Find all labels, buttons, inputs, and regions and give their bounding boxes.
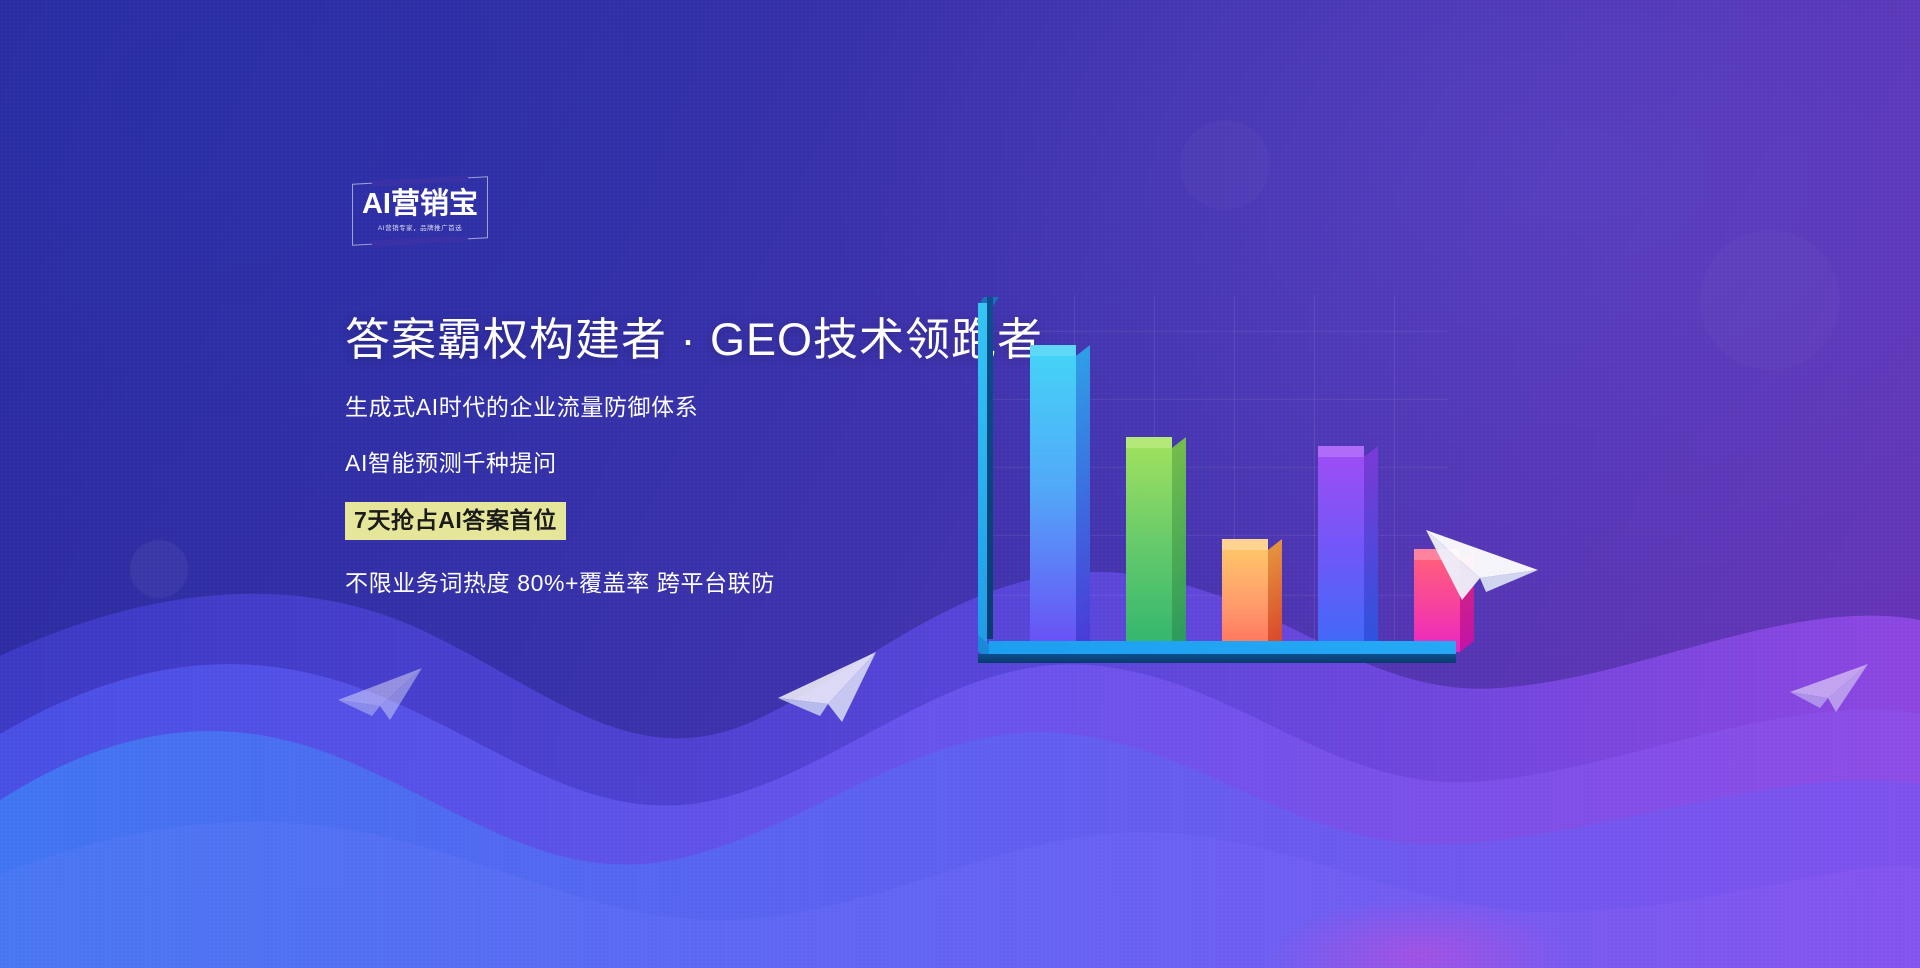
- chart-bar-2: [1126, 448, 1172, 652]
- hero-banner: AI营销宝 AI营销专家，品牌推广首选 答案霸权构建者 · GEO技术领跑者 生…: [0, 0, 1920, 968]
- subtitle-line-1: 生成式AI时代的企业流量防御体系: [345, 392, 1005, 422]
- hero-copy-block: 答案霸权构建者 · GEO技术领跑者 生成式AI时代的企业流量防御体系 AI智能…: [345, 312, 1005, 598]
- chart-bar-1: [1030, 356, 1076, 652]
- chart-base-platform: [978, 641, 1456, 665]
- wave-decoration: [0, 538, 1920, 968]
- highlight-badge: 7天抢占AI答案首位: [345, 502, 566, 540]
- decor-circle-right: [1700, 230, 1840, 370]
- bar-chart-illustration: [978, 295, 1448, 665]
- chart-bar-3: [1222, 550, 1268, 652]
- brand-logo[interactable]: AI营销宝 AI营销专家，品牌推广首选: [352, 180, 488, 242]
- features-line: 不限业务词热度 80%+覆盖率 跨平台联防: [345, 568, 1005, 598]
- logo-wordmark: AI营销宝: [352, 188, 488, 220]
- subtitle-line-2: AI智能预测千种提问: [345, 448, 1005, 478]
- decor-circle-upper: [1180, 120, 1270, 210]
- chart-bar-5: [1414, 560, 1460, 652]
- chart-y-axis: [978, 297, 992, 645]
- chart-bar-4: [1318, 457, 1364, 652]
- page-title: 答案霸权构建者 · GEO技术领跑者: [345, 312, 1005, 368]
- logo-tagline: AI营销专家，品牌推广首选: [352, 222, 488, 232]
